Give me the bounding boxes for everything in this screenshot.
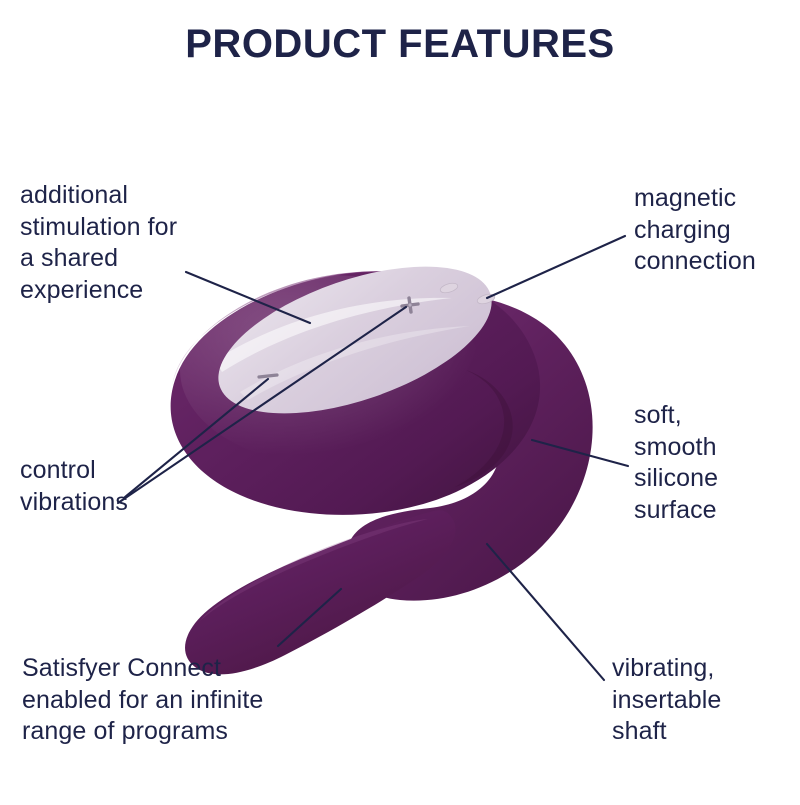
- callout-line: silicone: [634, 463, 718, 495]
- callout-line: insertable: [612, 685, 721, 717]
- callout-line: vibrations: [20, 487, 128, 519]
- callout-satisfyer-connect: Satisfyer Connect enabled for an infinit…: [22, 653, 263, 748]
- callout-line: enabled for an infinite: [22, 685, 263, 717]
- callout-line: a shared: [20, 243, 177, 275]
- callout-line: soft,: [634, 400, 718, 432]
- callout-additional-stimulation: additional stimulation for a shared expe…: [20, 180, 177, 306]
- callout-line: Satisfyer Connect: [22, 653, 263, 685]
- callout-line: smooth: [634, 432, 718, 464]
- callout-line: range of programs: [22, 716, 263, 748]
- callout-vibrating-shaft: vibrating, insertable shaft: [612, 653, 721, 748]
- callout-line: shaft: [612, 716, 721, 748]
- callout-line: magnetic: [634, 183, 756, 215]
- callout-soft-smooth-silicone: soft, smooth silicone surface: [634, 400, 718, 526]
- callout-line: control: [20, 455, 128, 487]
- callout-line: experience: [20, 275, 177, 307]
- callout-control-vibrations: control vibrations: [20, 455, 128, 518]
- decrease-button[interactable]: [259, 375, 277, 377]
- product-features-infographic: PRODUCT FEATURES: [0, 0, 800, 800]
- callout-line: charging: [634, 215, 756, 247]
- callout-line: surface: [634, 495, 718, 527]
- callout-line: additional: [20, 180, 177, 212]
- callout-line: connection: [634, 246, 756, 278]
- callout-line: vibrating,: [612, 653, 721, 685]
- callout-magnetic-charging: magnetic charging connection: [634, 183, 756, 278]
- callout-line: stimulation for: [20, 212, 177, 244]
